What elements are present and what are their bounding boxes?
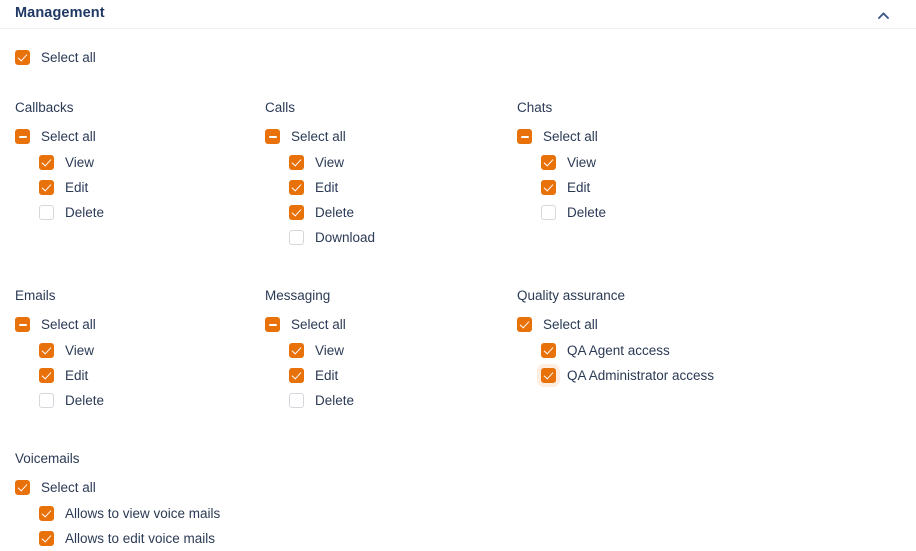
permission-messaging-view-checkbox[interactable] xyxy=(289,343,304,358)
permission-chats-edit-label: Edit xyxy=(567,179,590,196)
select-all-voicemails-label: Select all xyxy=(41,479,96,496)
select-all-chats-row[interactable]: Select all xyxy=(517,124,901,149)
permission-emails-delete-label: Delete xyxy=(65,392,104,409)
permission-quality-assurance-qa-administrator-access-label: QA Administrator access xyxy=(567,367,714,384)
permission-emails-view-row[interactable]: View xyxy=(39,338,265,363)
permission-messaging-view-row[interactable]: View xyxy=(289,338,517,363)
permission-voicemails-allows-to-view-voice-mails-label: Allows to view voice mails xyxy=(65,505,220,522)
select-all-messaging-checkbox[interactable] xyxy=(265,317,280,332)
permission-emails-view-label: View xyxy=(65,342,94,359)
permission-calls-download-checkbox[interactable] xyxy=(289,230,304,245)
select-all-chats-checkbox[interactable] xyxy=(517,129,532,144)
permission-callbacks-delete-row[interactable]: Delete xyxy=(39,200,265,225)
select-all-root-checkbox[interactable] xyxy=(15,50,30,65)
permission-group-chats: ChatsSelect allViewEditDelete xyxy=(517,99,901,250)
permission-emails-delete-row[interactable]: Delete xyxy=(39,388,265,413)
permission-callbacks-delete-checkbox[interactable] xyxy=(39,205,54,220)
permission-callbacks-delete-label: Delete xyxy=(65,204,104,221)
permission-emails-delete-checkbox[interactable] xyxy=(39,393,54,408)
permission-groups-grid: CallbacksSelect allViewEditDeleteCallsSe… xyxy=(15,99,901,551)
permission-calls-delete-checkbox[interactable] xyxy=(289,205,304,220)
permission-calls-delete-label: Delete xyxy=(315,204,354,221)
group-items-callbacks: ViewEditDelete xyxy=(15,150,265,225)
permission-chats-delete-row[interactable]: Delete xyxy=(541,200,901,225)
permission-group-callbacks: CallbacksSelect allViewEditDelete xyxy=(15,99,265,250)
permission-callbacks-view-label: View xyxy=(65,154,94,171)
permission-quality-assurance-qa-agent-access-label: QA Agent access xyxy=(567,342,670,359)
select-all-root-row[interactable]: Select all xyxy=(15,45,901,70)
panel-body: Select all CallbacksSelect allViewEditDe… xyxy=(0,45,916,551)
permission-emails-view-checkbox[interactable] xyxy=(39,343,54,358)
select-all-root-label: Select all xyxy=(41,49,96,66)
select-all-voicemails-checkbox[interactable] xyxy=(15,480,30,495)
management-permissions-panel: Management Select all CallbacksSelect al… xyxy=(0,0,916,543)
permission-messaging-delete-checkbox[interactable] xyxy=(289,393,304,408)
select-all-calls-label: Select all xyxy=(291,128,346,145)
permission-messaging-edit-row[interactable]: Edit xyxy=(289,363,517,388)
group-title-quality-assurance: Quality assurance xyxy=(517,287,901,304)
permission-messaging-delete-row[interactable]: Delete xyxy=(289,388,517,413)
permission-callbacks-edit-row[interactable]: Edit xyxy=(39,175,265,200)
select-all-calls-checkbox[interactable] xyxy=(265,129,280,144)
group-items-emails: ViewEditDelete xyxy=(15,338,265,413)
select-all-voicemails-row[interactable]: Select all xyxy=(15,475,265,500)
permission-group-calls: CallsSelect allViewEditDeleteDownload xyxy=(265,99,517,250)
chevron-up-icon xyxy=(878,12,889,19)
permission-messaging-view-label: View xyxy=(315,342,344,359)
permission-callbacks-edit-checkbox[interactable] xyxy=(39,180,54,195)
group-items-messaging: ViewEditDelete xyxy=(265,338,517,413)
permission-messaging-edit-checkbox[interactable] xyxy=(289,368,304,383)
permission-chats-view-label: View xyxy=(567,154,596,171)
permission-chats-delete-label: Delete xyxy=(567,204,606,221)
permission-callbacks-view-checkbox[interactable] xyxy=(39,155,54,170)
group-title-messaging: Messaging xyxy=(265,287,517,304)
permission-calls-download-label: Download xyxy=(315,229,375,246)
permission-calls-delete-row[interactable]: Delete xyxy=(289,200,517,225)
group-items-voicemails: Allows to view voice mailsAllows to edit… xyxy=(15,501,265,551)
select-all-emails-checkbox[interactable] xyxy=(15,317,30,332)
select-all-emails-row[interactable]: Select all xyxy=(15,312,265,337)
select-all-quality-assurance-checkbox[interactable] xyxy=(517,317,532,332)
group-title-calls: Calls xyxy=(265,99,517,116)
page-title: Management xyxy=(15,4,105,22)
permission-calls-edit-row[interactable]: Edit xyxy=(289,175,517,200)
permission-calls-edit-checkbox[interactable] xyxy=(289,180,304,195)
permission-quality-assurance-qa-administrator-access-row[interactable]: QA Administrator access xyxy=(541,363,901,388)
group-title-emails: Emails xyxy=(15,287,265,304)
permission-messaging-delete-label: Delete xyxy=(315,392,354,409)
permission-callbacks-edit-label: Edit xyxy=(65,179,88,196)
permission-messaging-edit-label: Edit xyxy=(315,367,338,384)
collapse-panel-button[interactable] xyxy=(872,6,894,24)
permission-calls-view-row[interactable]: View xyxy=(289,150,517,175)
permission-emails-edit-checkbox[interactable] xyxy=(39,368,54,383)
permission-voicemails-allows-to-edit-voice-mails-checkbox[interactable] xyxy=(39,531,54,546)
permission-calls-edit-label: Edit xyxy=(315,179,338,196)
group-items-quality-assurance: QA Agent accessQA Administrator access xyxy=(517,338,901,388)
group-items-chats: ViewEditDelete xyxy=(517,150,901,225)
permission-chats-view-checkbox[interactable] xyxy=(541,155,556,170)
permission-chats-edit-checkbox[interactable] xyxy=(541,180,556,195)
select-all-callbacks-row[interactable]: Select all xyxy=(15,124,265,149)
select-all-callbacks-checkbox[interactable] xyxy=(15,129,30,144)
panel-header: Management xyxy=(0,0,916,28)
permission-voicemails-allows-to-edit-voice-mails-row[interactable]: Allows to edit voice mails xyxy=(39,526,265,551)
select-all-emails-label: Select all xyxy=(41,316,96,333)
select-all-messaging-row[interactable]: Select all xyxy=(265,312,517,337)
select-all-quality-assurance-label: Select all xyxy=(543,316,598,333)
permission-calls-download-row[interactable]: Download xyxy=(289,225,517,250)
permission-voicemails-allows-to-edit-voice-mails-label: Allows to edit voice mails xyxy=(65,530,215,547)
select-all-chats-label: Select all xyxy=(543,128,598,145)
permission-group-voicemails: VoicemailsSelect allAllows to view voice… xyxy=(15,450,265,551)
permission-chats-view-row[interactable]: View xyxy=(541,150,901,175)
permission-chats-delete-checkbox[interactable] xyxy=(541,205,556,220)
permission-voicemails-allows-to-view-voice-mails-checkbox[interactable] xyxy=(39,506,54,521)
permission-emails-edit-label: Edit xyxy=(65,367,88,384)
permission-quality-assurance-qa-administrator-access-checkbox[interactable] xyxy=(541,368,556,383)
select-all-messaging-label: Select all xyxy=(291,316,346,333)
permission-group-emails: EmailsSelect allViewEditDelete xyxy=(15,287,265,413)
permission-callbacks-view-row[interactable]: View xyxy=(39,150,265,175)
permission-calls-view-label: View xyxy=(315,154,344,171)
permission-group-messaging: MessagingSelect allViewEditDelete xyxy=(265,287,517,413)
group-items-calls: ViewEditDeleteDownload xyxy=(265,150,517,250)
group-title-chats: Chats xyxy=(517,99,901,116)
group-title-callbacks: Callbacks xyxy=(15,99,265,116)
permission-quality-assurance-qa-agent-access-row[interactable]: QA Agent access xyxy=(541,338,901,363)
group-title-voicemails: Voicemails xyxy=(15,450,265,467)
permission-chats-edit-row[interactable]: Edit xyxy=(541,175,901,200)
select-all-callbacks-label: Select all xyxy=(41,128,96,145)
permission-quality-assurance-qa-agent-access-checkbox[interactable] xyxy=(541,343,556,358)
select-all-calls-row[interactable]: Select all xyxy=(265,124,517,149)
permission-calls-view-checkbox[interactable] xyxy=(289,155,304,170)
permission-group-quality-assurance: Quality assuranceSelect allQA Agent acce… xyxy=(517,287,901,413)
header-divider xyxy=(0,28,916,29)
select-all-quality-assurance-row[interactable]: Select all xyxy=(517,312,901,337)
permission-emails-edit-row[interactable]: Edit xyxy=(39,363,265,388)
permission-voicemails-allows-to-view-voice-mails-row[interactable]: Allows to view voice mails xyxy=(39,501,265,526)
